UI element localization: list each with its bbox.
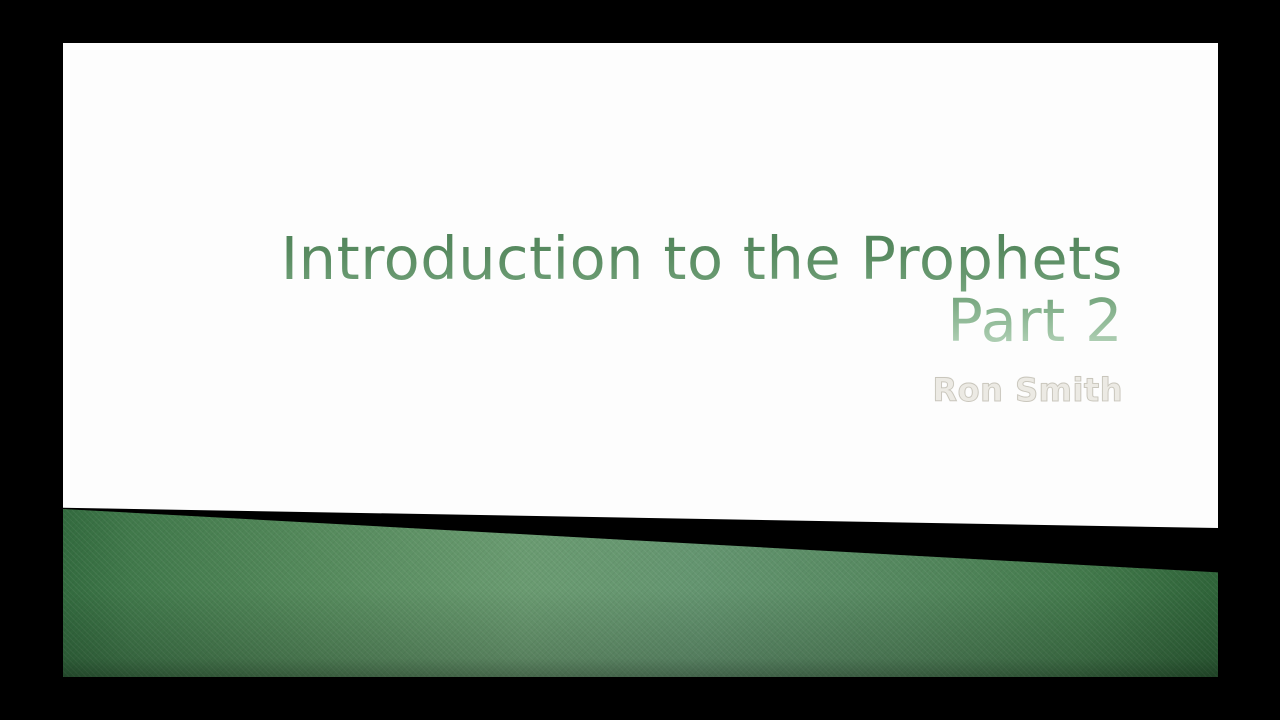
slide-text-block: Introduction to the ProphetsPart 2 Ron S…	[123, 228, 1123, 408]
slide-subtitle-presenter-name: Ron Smith	[123, 372, 1123, 408]
video-letterbox-frame: Introduction to the ProphetsPart 2 Ron S…	[0, 0, 1280, 720]
presentation-slide: Introduction to the ProphetsPart 2 Ron S…	[63, 43, 1218, 677]
slide-title-line-1: Introduction to the Prophets	[123, 228, 1123, 290]
slide-title: Introduction to the ProphetsPart 2	[123, 228, 1123, 352]
slide-title-line-2: Part 2	[123, 290, 1123, 352]
